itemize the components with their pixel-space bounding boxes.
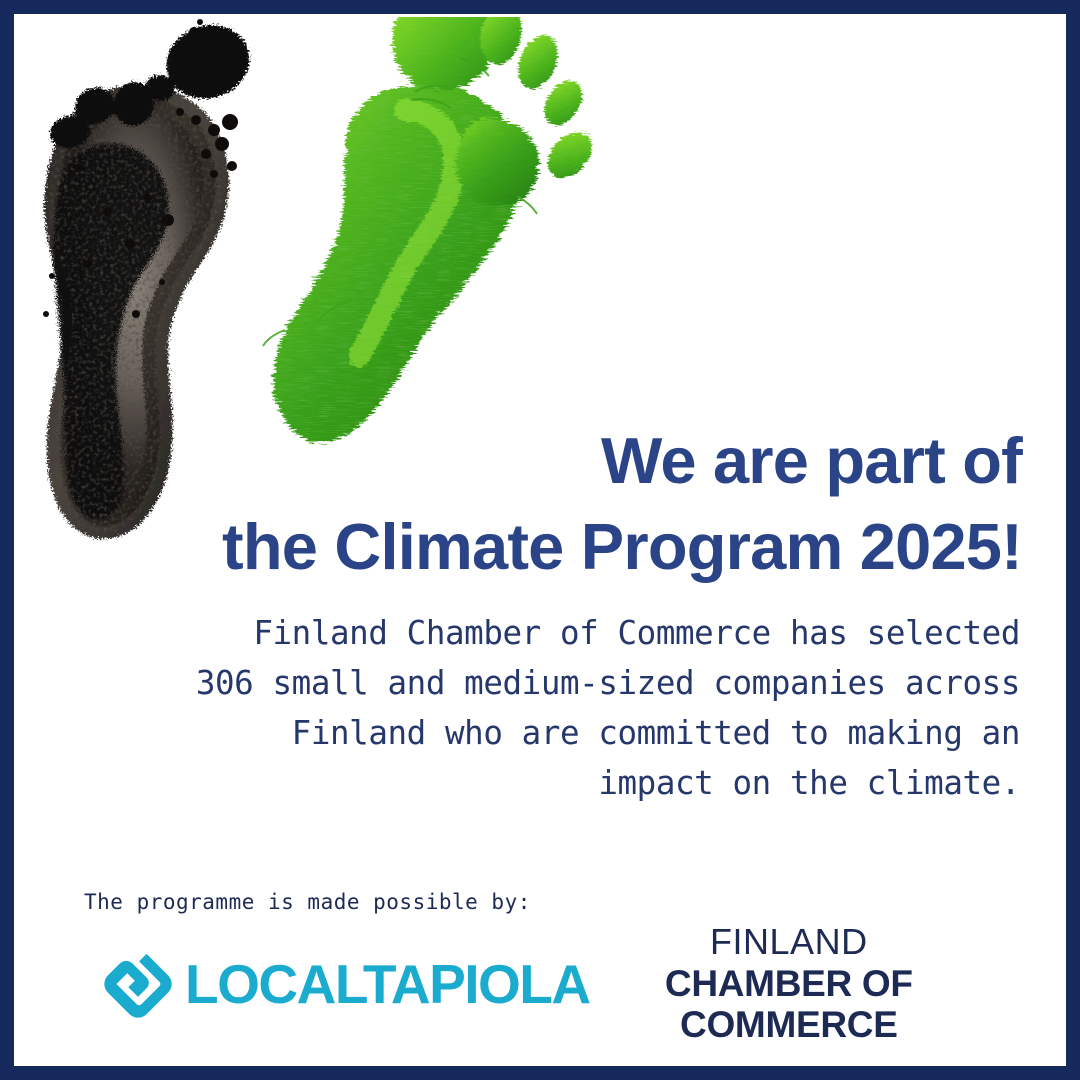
climate-program-poster: We are part of the Climate Program 2025!… bbox=[0, 0, 1080, 1080]
body-line-1: Finland Chamber of Commerce has selected bbox=[60, 608, 1020, 658]
headline-line-2: the Climate Program 2025! bbox=[182, 504, 1022, 590]
body-paragraph: Finland Chamber of Commerce has selected… bbox=[60, 608, 1020, 808]
headline-line-1: We are part of bbox=[182, 418, 1022, 504]
sponsor-note: The programme is made possible by: bbox=[84, 890, 531, 914]
green-grass-footprint-image bbox=[255, 0, 600, 480]
finland-chamber-of-commerce-logo: FINLAND CHAMBER OF COMMERCE bbox=[590, 922, 988, 1045]
fcc-line-chamber-of-commerce: CHAMBER OF COMMERCE bbox=[590, 963, 988, 1046]
page-title: We are part of the Climate Program 2025! bbox=[182, 418, 1022, 590]
sponsor-logo-row: LOCALTAPIOLA FINLAND CHAMBER OF COMMERCE bbox=[70, 934, 1010, 1034]
fcc-line-finland: FINLAND bbox=[590, 922, 988, 962]
localtapiola-logo: LOCALTAPIOLA bbox=[100, 946, 590, 1022]
body-line-3: Finland who are committed to making an bbox=[60, 708, 1020, 758]
body-line-4: impact on the climate. bbox=[60, 758, 1020, 808]
localtapiola-spiral-icon bbox=[100, 946, 176, 1022]
localtapiola-wordmark: LOCALTAPIOLA bbox=[185, 957, 590, 1012]
body-line-2: 306 small and medium-sized companies acr… bbox=[60, 658, 1020, 708]
